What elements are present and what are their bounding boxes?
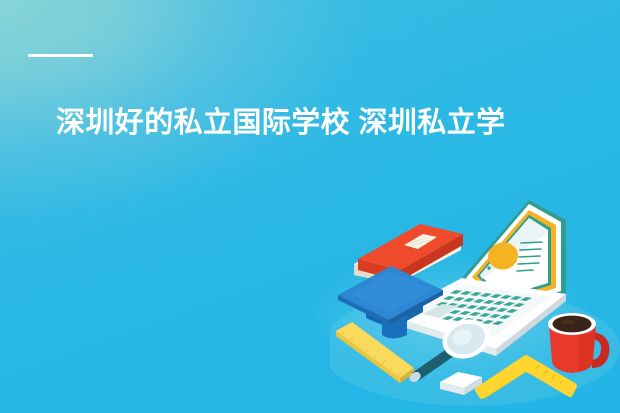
page-title: 深圳好的私立国际学校 深圳私立学 — [56, 103, 608, 143]
promo-banner: 深圳好的私立国际学校 深圳私立学 — [0, 0, 620, 413]
accent-rule — [28, 54, 93, 57]
education-desk-illustration — [330, 198, 620, 413]
window-dot — [487, 266, 490, 269]
